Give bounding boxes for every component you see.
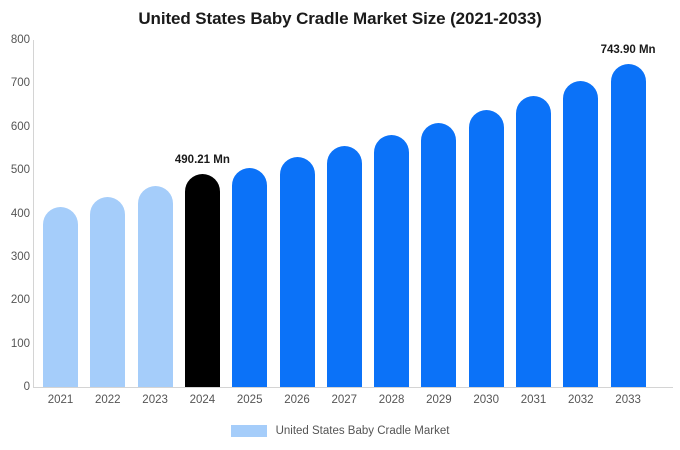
x-tick-label-2021: 2021 — [43, 394, 78, 406]
bar-column[interactable] — [90, 40, 125, 387]
bar-column[interactable] — [280, 40, 315, 387]
bar-2022[interactable] — [90, 197, 125, 387]
y-tick-label: 300 — [0, 251, 30, 263]
bar-column[interactable] — [43, 40, 78, 387]
y-tick-label: 200 — [0, 294, 30, 306]
x-tick-label-2025: 2025 — [232, 394, 267, 406]
bar-2027[interactable] — [327, 146, 362, 387]
y-tick-label: 800 — [0, 34, 30, 46]
bar-column[interactable] — [563, 40, 598, 387]
x-tick-label-2029: 2029 — [421, 394, 456, 406]
legend-swatch-icon — [231, 425, 267, 437]
x-tick-label-2030: 2030 — [469, 394, 504, 406]
x-tick-label-2031: 2031 — [516, 394, 551, 406]
chart-legend: United States Baby Cradle Market — [0, 425, 680, 437]
x-tick-label-2026: 2026 — [280, 394, 315, 406]
bar-2029[interactable] — [421, 123, 456, 387]
bar-column[interactable] — [327, 40, 362, 387]
bar-2030[interactable] — [469, 110, 504, 387]
bar-value-label-2024: 490.21 Mn — [175, 154, 230, 166]
x-tick-label-2023: 2023 — [138, 394, 173, 406]
legend-label: United States Baby Cradle Market — [276, 425, 450, 437]
bar-2026[interactable] — [280, 157, 315, 387]
x-tick-label-2022: 2022 — [90, 394, 125, 406]
x-axis-line — [33, 387, 673, 388]
bar-2021[interactable] — [43, 207, 78, 387]
x-tick-label-2032: 2032 — [563, 394, 598, 406]
bar-chart: United States Baby Cradle Market Size (2… — [0, 0, 680, 450]
bar-value-label-2033: 743.90 Mn — [601, 44, 656, 56]
plot-area — [33, 40, 673, 387]
y-tick-label: 700 — [0, 77, 30, 89]
bar-column[interactable] — [469, 40, 504, 387]
bar-2032[interactable] — [563, 81, 598, 387]
bar-2023[interactable] — [138, 186, 173, 387]
x-tick-label-2027: 2027 — [327, 394, 362, 406]
bar-column[interactable] — [374, 40, 409, 387]
y-tick-label: 500 — [0, 164, 30, 176]
legend-item[interactable]: United States Baby Cradle Market — [231, 425, 450, 437]
bar-column[interactable] — [611, 40, 646, 387]
y-tick-label: 0 — [0, 381, 30, 393]
bar-column[interactable] — [185, 40, 220, 387]
y-tick-label: 600 — [0, 121, 30, 133]
bar-column[interactable] — [138, 40, 173, 387]
y-axis-ticks: 0100200300400500600700800 — [0, 0, 30, 450]
bar-2033[interactable] — [611, 64, 646, 387]
bar-column[interactable] — [516, 40, 551, 387]
chart-title: United States Baby Cradle Market Size (2… — [0, 9, 680, 29]
bar-2024[interactable] — [185, 174, 220, 387]
x-tick-label-2024: 2024 — [185, 394, 220, 406]
bar-column[interactable] — [232, 40, 267, 387]
bar-column[interactable] — [421, 40, 456, 387]
bar-2031[interactable] — [516, 96, 551, 387]
bar-2028[interactable] — [374, 135, 409, 387]
y-tick-label: 100 — [0, 338, 30, 350]
y-tick-label: 400 — [0, 208, 30, 220]
x-tick-label-2033: 2033 — [611, 394, 646, 406]
x-tick-label-2028: 2028 — [374, 394, 409, 406]
bar-2025[interactable] — [232, 168, 267, 387]
